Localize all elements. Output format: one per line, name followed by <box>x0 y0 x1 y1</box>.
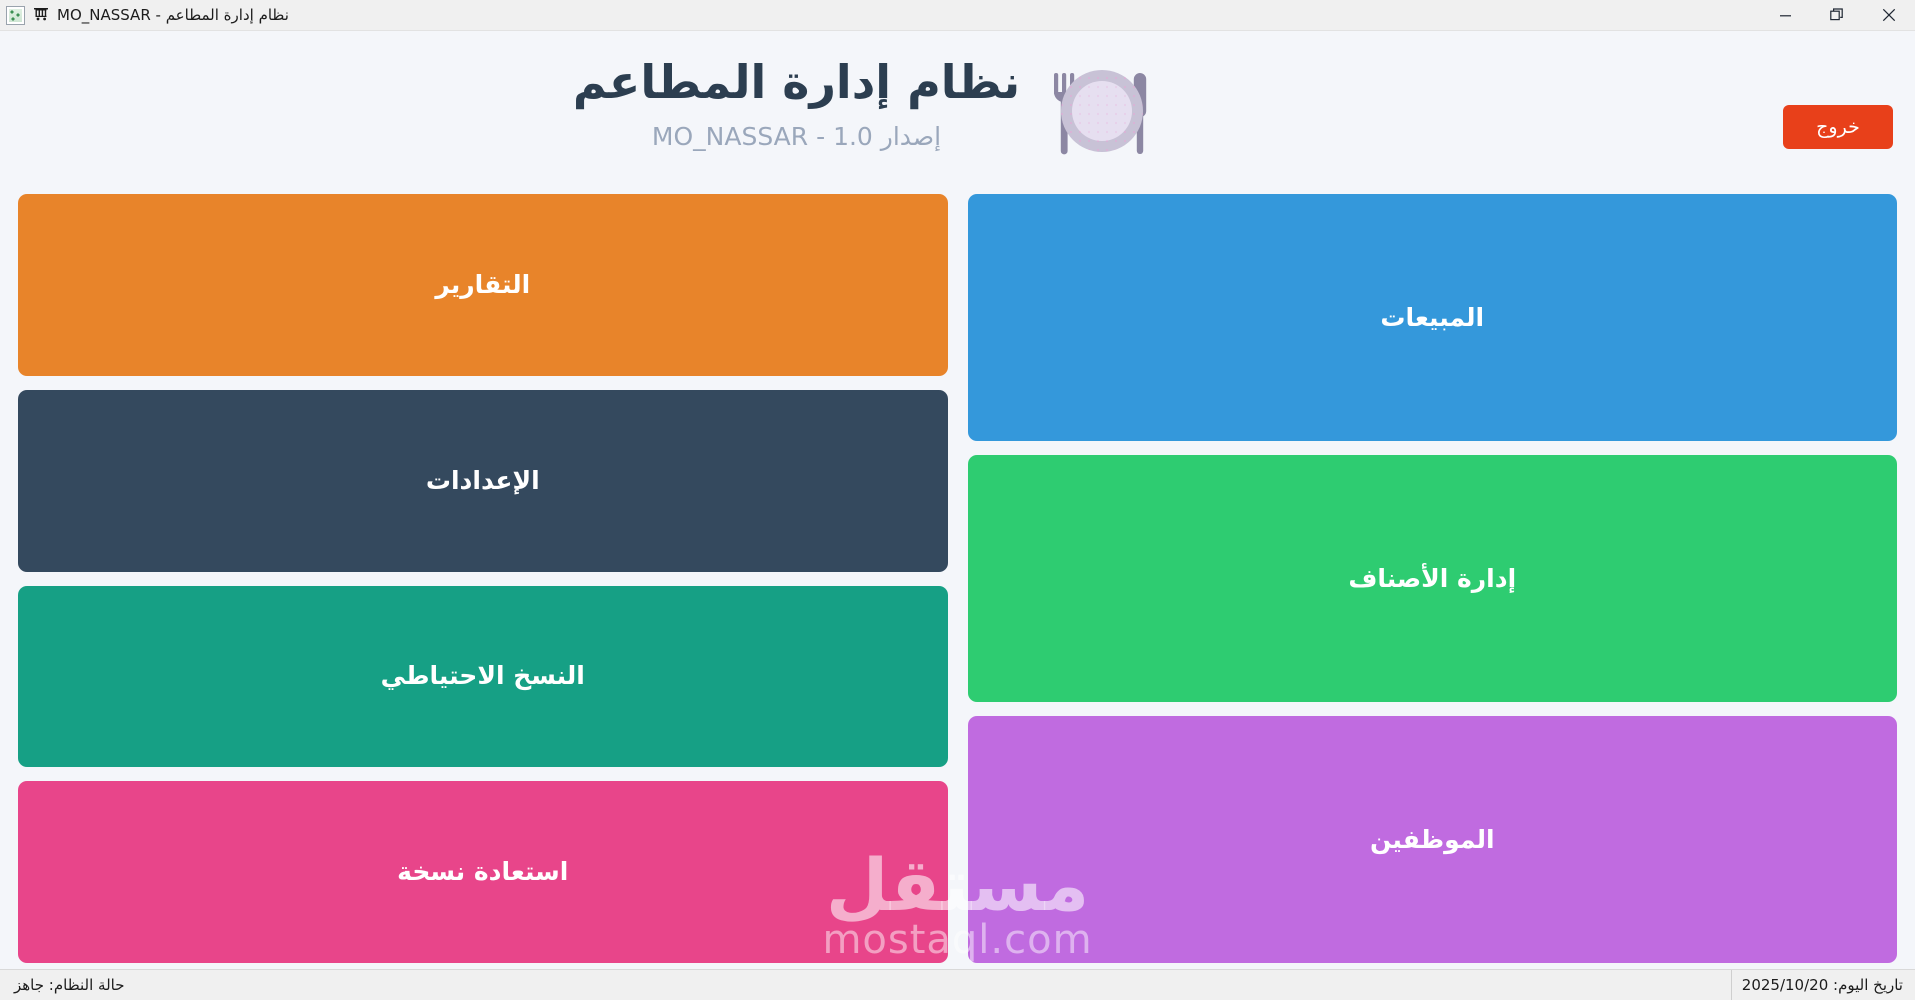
title-bar: نظام إدارة المطاعم - MO_NASSAR <box>0 0 1915 31</box>
secondary-actions-column: التقارير الإعدادات النسخ الاحتياطي استعا… <box>18 194 948 963</box>
minimize-icon[interactable] <box>1759 0 1811 31</box>
close-icon[interactable] <box>1863 0 1915 31</box>
app-icon <box>6 6 25 25</box>
plate-fork-knife-icon <box>1042 49 1162 157</box>
window-title-group: نظام إدارة المطاعم - MO_NASSAR <box>33 5 289 25</box>
brand-block: نظام إدارة المطاعم إصدار 1.0 - MO_NASSAR <box>0 49 1915 157</box>
reports-button[interactable]: التقارير <box>18 194 948 376</box>
status-bar: تاريخ اليوم: 2025/10/20 حالة النظام: جاه… <box>0 969 1915 1000</box>
window-title-text: نظام إدارة المطاعم - MO_NASSAR <box>57 6 289 24</box>
window-controls <box>1759 0 1915 31</box>
exit-button[interactable]: خروج <box>1783 105 1893 149</box>
shopping-cart-icon <box>33 5 50 25</box>
sales-button[interactable]: المبيعات <box>968 194 1898 441</box>
employees-button[interactable]: الموظفين <box>968 716 1898 963</box>
page-title: نظام إدارة المطاعم <box>573 54 1020 112</box>
version-subtitle: إصدار 1.0 - MO_NASSAR <box>573 122 1020 152</box>
restore-icon[interactable] <box>1811 0 1863 31</box>
status-date: تاريخ اليوم: 2025/10/20 <box>1731 970 1915 1000</box>
primary-actions-column: المبيعات إدارة الأصناف الموظفين <box>968 194 1898 963</box>
header: نظام إدارة المطاعم إصدار 1.0 - MO_NASSAR <box>0 31 1915 194</box>
backup-button[interactable]: النسخ الاحتياطي <box>18 586 948 768</box>
brand-text: نظام إدارة المطاعم إصدار 1.0 - MO_NASSAR <box>573 54 1020 152</box>
restore-button[interactable]: استعادة نسخة <box>18 781 948 963</box>
items-management-button[interactable]: إدارة الأصناف <box>968 455 1898 702</box>
status-system-state: حالة النظام: جاهز <box>0 970 135 1000</box>
settings-button[interactable]: الإعدادات <box>18 390 948 572</box>
main-content: المبيعات إدارة الأصناف الموظفين التقارير… <box>0 194 1915 969</box>
application-window: نظام إدارة المطاعم - MO_NASSAR <box>0 0 1915 1000</box>
